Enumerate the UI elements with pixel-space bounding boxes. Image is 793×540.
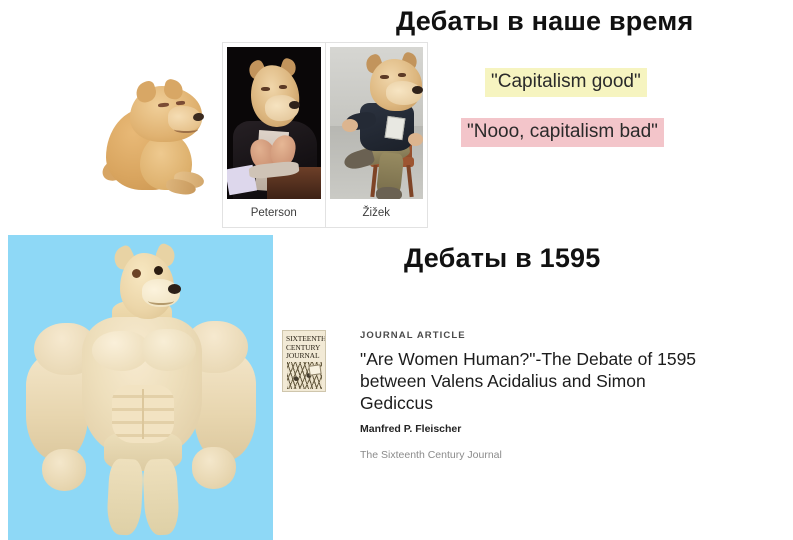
article-journal-name: The Sixteenth Century Journal	[360, 449, 722, 461]
journal-cover-thumbnail: Sixteenth Century Journal	[282, 330, 326, 392]
panel-title-modern: Дебаты в наше время	[396, 6, 693, 37]
caption-peterson: Peterson	[223, 199, 325, 227]
buff-leg-left	[106, 458, 144, 536]
caption-zizek: Žižek	[326, 199, 428, 227]
peterson-doge-eye-left	[261, 87, 270, 91]
meme-canvas: Дебаты в наше время	[0, 0, 793, 540]
buff-abs	[112, 385, 174, 443]
buff-eye-right	[154, 266, 163, 275]
zizek-doge-eye-left	[380, 75, 389, 79]
zizek-doge-eye-right	[398, 73, 406, 77]
article-author: Manfred P. Fleischer	[360, 423, 722, 435]
buff-pec-left	[92, 331, 148, 371]
journal-article-body: JOURNAL ARTICLE "Are Women Human?"-The D…	[360, 330, 722, 461]
buff-doge-panel	[8, 235, 273, 540]
peterson-doge-eye-right	[279, 85, 287, 89]
buff-nose	[168, 284, 181, 294]
buff-doge-figure	[8, 235, 273, 540]
buff-eye-left	[132, 269, 141, 278]
doge-mouth	[174, 126, 198, 133]
buff-mouth	[148, 297, 174, 305]
zizek-book	[384, 116, 405, 140]
zizek-doge-photo	[330, 47, 424, 199]
debater-image-grid: Peterson	[222, 42, 428, 228]
zizek-hand-right	[408, 133, 423, 146]
journal-cover-banner	[308, 364, 321, 376]
zizek-doge-nose	[412, 86, 423, 94]
buff-fist-left	[42, 449, 86, 491]
article-title: "Are Women Human?"-The Debate of 1595 be…	[360, 348, 710, 414]
journal-article-card: Sixteenth Century Journal JOURNAL ARTICL…	[282, 330, 722, 461]
doge-eye-right	[176, 101, 185, 105]
doge-nose	[192, 112, 204, 121]
article-kicker: JOURNAL ARTICLE	[360, 330, 722, 341]
zizek-hand-left	[342, 119, 358, 132]
grid-cell-zizek: Žižek	[326, 43, 428, 227]
panel-title-1595: Дебаты в 1595	[404, 243, 600, 274]
buff-leg-right	[142, 458, 180, 536]
zizek-shoe-right	[376, 187, 402, 199]
grid-cell-peterson: Peterson	[223, 43, 326, 227]
cheems-doge-figure	[100, 76, 208, 196]
peterson-doge-photo	[227, 47, 321, 199]
peterson-doge-nose	[289, 101, 300, 109]
speech-capitalism-good: "Capitalism good"	[485, 68, 647, 97]
journal-cover-title: Sixteenth Century Journal	[286, 335, 323, 361]
buff-fist-right	[192, 447, 236, 489]
speech-capitalism-bad: "Nooo, capitalism bad"	[461, 118, 664, 147]
